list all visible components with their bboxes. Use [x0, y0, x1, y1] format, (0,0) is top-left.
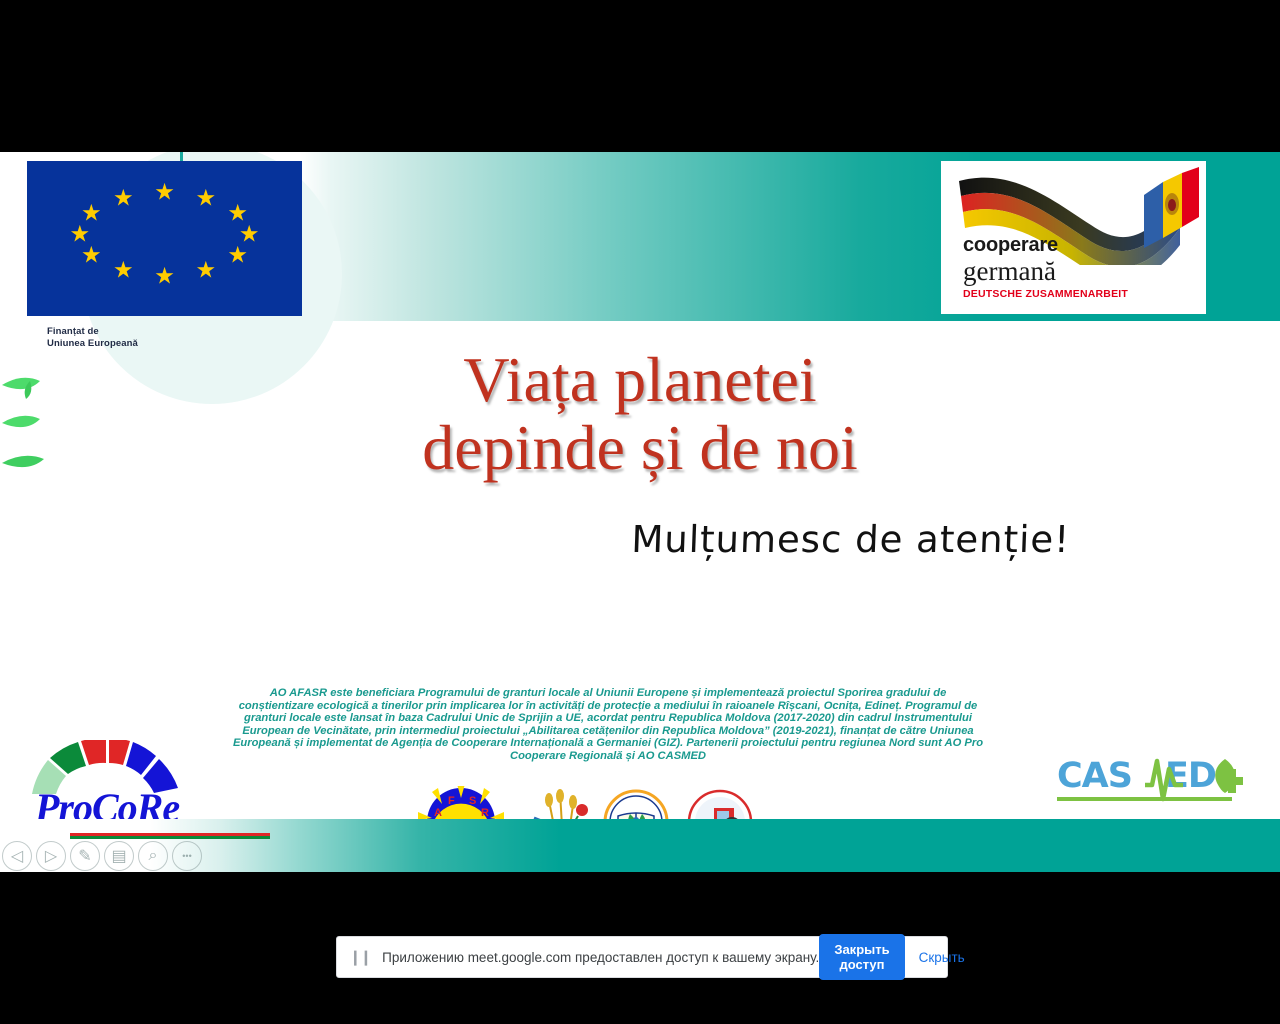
- previous-slide-button[interactable]: ◁: [2, 841, 32, 871]
- screen-share-notification: ❙❙ Приложению meet.google.com предоставл…: [336, 936, 948, 978]
- grid-icon: ▤: [111, 846, 126, 866]
- previous-slide-icon: ◁: [11, 846, 23, 866]
- german-logo-text: cooperare germană DEUTSCHE ZUSAMMENARBEI…: [963, 235, 1128, 300]
- svg-text:R: R: [481, 807, 489, 819]
- german-logo-line1: cooperare: [963, 235, 1128, 256]
- presentation-controls-toolbar[interactable]: ◁ ▷ ✎ ▤ ⌕ •••: [2, 839, 234, 872]
- magnifier-icon: ⌕: [149, 847, 158, 865]
- eu-flag: ★ ★ ★ ★ ★ ★ ★ ★ ★ ★ ★ ★: [27, 161, 302, 316]
- ellipsis-icon: •••: [182, 851, 191, 861]
- screen-share-message: Приложению meet.google.com предоставлен …: [382, 950, 819, 965]
- pen-icon: ✎: [78, 846, 91, 866]
- casmed-logo: CAS ED: [1057, 755, 1252, 807]
- next-slide-button[interactable]: ▷: [36, 841, 66, 871]
- casmed-underline: [1057, 797, 1232, 801]
- thanks-subtitle: Mulțumesc de atenție!: [299, 518, 1101, 561]
- screen: ★ ★ ★ ★ ★ ★ ★ ★ ★ ★ ★ ★ Finanțat de Uniu…: [0, 0, 1280, 1024]
- title-line-1: Viața planetei: [220, 346, 1060, 414]
- title-line-2: depinde și de noi: [220, 414, 1060, 482]
- eu-stars: ★ ★ ★ ★ ★ ★ ★ ★ ★ ★ ★ ★: [27, 161, 302, 316]
- svg-text:F: F: [448, 795, 455, 807]
- next-slide-icon: ▷: [45, 846, 57, 866]
- german-logo-line3: DEUTSCHE ZUSAMMENARBEIT: [963, 288, 1128, 300]
- all-slides-button[interactable]: ▤: [104, 841, 134, 871]
- more-options-button[interactable]: •••: [172, 841, 202, 871]
- page-title: Viața planetei depinde și de noi: [220, 346, 1060, 482]
- pen-tool-button[interactable]: ✎: [70, 841, 100, 871]
- project-disclaimer-text: AO AFASR este beneficiara Programului de…: [232, 687, 984, 763]
- german-cooperation-logo: cooperare germană DEUTSCHE ZUSAMMENARBEI…: [941, 161, 1206, 314]
- leaf-decoration: [0, 367, 60, 487]
- pause-icon[interactable]: ❙❙: [349, 948, 370, 966]
- stop-sharing-button[interactable]: Закрыть доступ: [819, 934, 904, 980]
- presentation-slide: ★ ★ ★ ★ ★ ★ ★ ★ ★ ★ ★ ★ Finanțat de Uniu…: [0, 152, 1280, 872]
- hide-notification-link[interactable]: Скрыть: [919, 950, 965, 965]
- eu-caption-line1: Finanțat de: [47, 326, 277, 338]
- german-logo-line2: germană: [963, 257, 1128, 285]
- svg-text:A: A: [434, 807, 442, 819]
- svg-text:S: S: [469, 795, 476, 807]
- zoom-button[interactable]: ⌕: [138, 841, 168, 871]
